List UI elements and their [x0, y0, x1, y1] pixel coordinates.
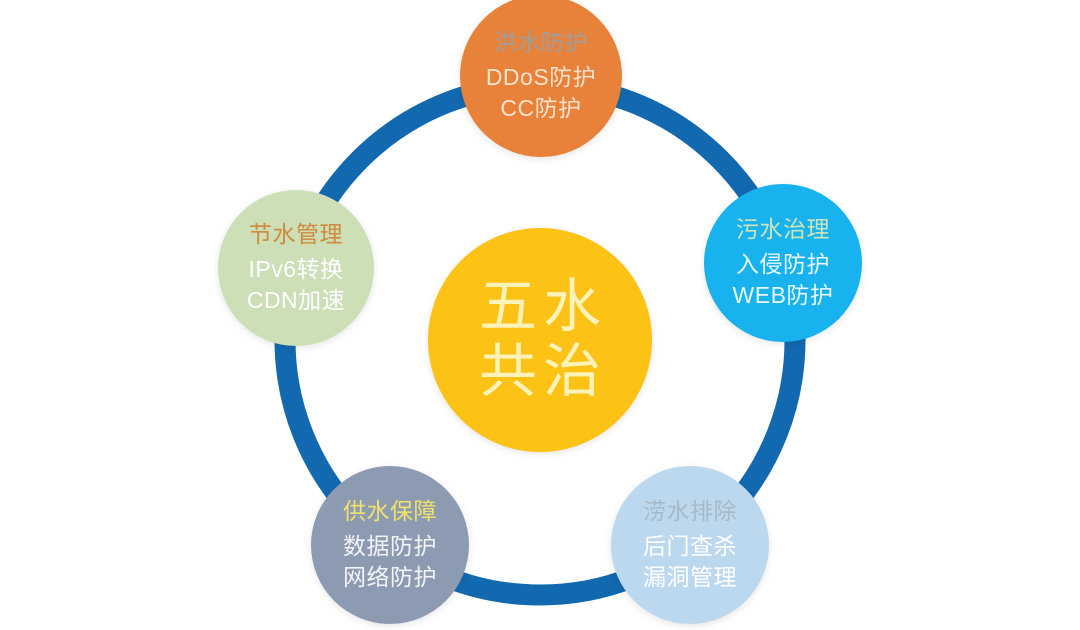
- node-flood-item-1: DDoS防护: [486, 63, 596, 93]
- node-saving-item-1: IPv6转换: [248, 255, 343, 285]
- node-waterlog-heading: 涝水排除: [643, 497, 737, 527]
- node-saving-item-2: CDN加速: [247, 286, 345, 316]
- node-supply-item-2: 网络防护: [343, 563, 437, 593]
- node-sewage-treatment[interactable]: 污水治理 入侵防护 WEB防护: [704, 184, 862, 342]
- node-flood-heading: 洪水防护: [494, 28, 588, 58]
- hub-title-line-1: 五水: [473, 275, 607, 340]
- hub-title-line-2: 共治: [473, 340, 607, 405]
- node-water-supply[interactable]: 供水保障 数据防护 网络防护: [311, 466, 469, 624]
- node-waterlogging-drainage[interactable]: 涝水排除 后门查杀 漏洞管理: [611, 466, 769, 624]
- diagram-canvas: 五水 共治 洪水防护 DDoS防护 CC防护 污水治理 入侵防护 WEB防护 涝…: [0, 0, 1080, 630]
- node-waterlog-item-1: 后门查杀: [643, 532, 737, 562]
- node-sewage-item-2: WEB防护: [733, 281, 834, 311]
- node-flood-item-2: CC防护: [500, 94, 581, 124]
- node-saving-heading: 节水管理: [249, 220, 343, 250]
- node-waterlog-item-2: 漏洞管理: [643, 563, 737, 593]
- node-water-saving[interactable]: 节水管理 IPv6转换 CDN加速: [218, 190, 374, 346]
- node-supply-heading: 供水保障: [343, 497, 437, 527]
- node-supply-item-1: 数据防护: [343, 532, 437, 562]
- center-hub[interactable]: 五水 共治: [428, 228, 652, 452]
- node-flood-protection[interactable]: 洪水防护 DDoS防护 CC防护: [460, 0, 622, 157]
- node-sewage-item-1: 入侵防护: [736, 250, 830, 280]
- node-sewage-heading: 污水治理: [736, 215, 830, 245]
